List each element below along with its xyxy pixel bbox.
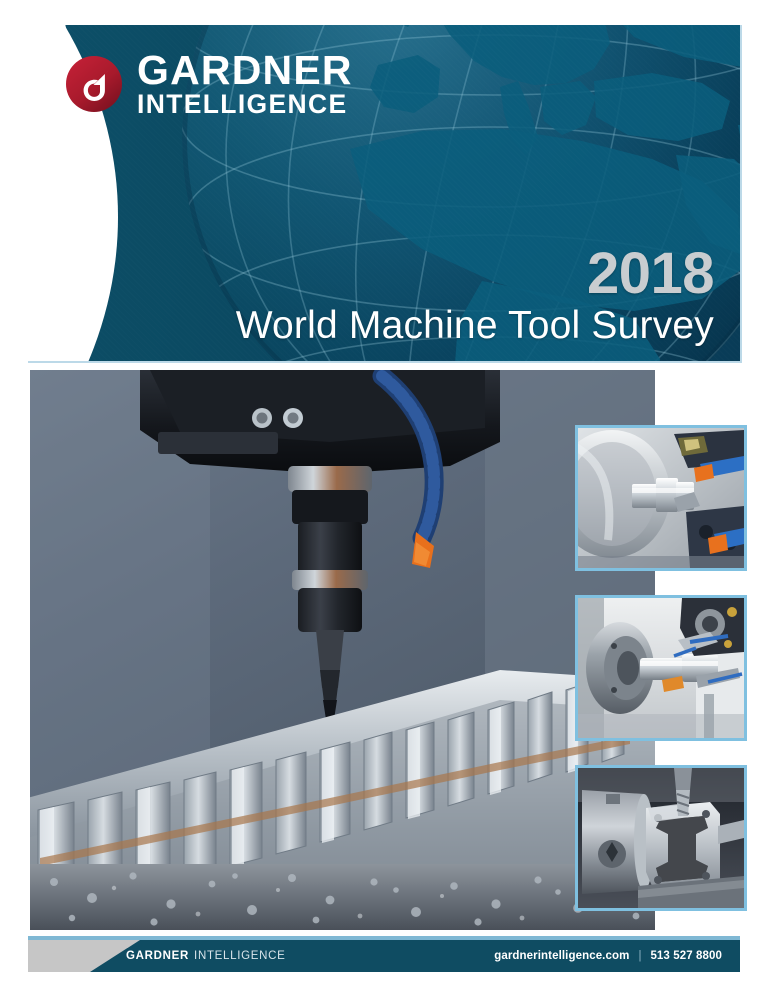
logo-wordmark: GARDNER INTELLIGENCE [137, 50, 353, 118]
cover-page: GARDNER INTELLIGENCE 2018 World Machine … [0, 0, 768, 994]
lathe-turning-photo [575, 425, 747, 571]
title-year: 2018 [236, 245, 714, 303]
machined-part-photo [575, 765, 747, 911]
footer-brand-gardner: GARDNER [126, 950, 189, 962]
gardner-g-mark-icon [64, 54, 124, 114]
grinding-spindle-photo [575, 595, 747, 741]
cnc-milling-machine-photo [30, 370, 655, 930]
logo-line-gardner: GARDNER [137, 50, 353, 90]
footer-brand-intelligence: INTELLIGENCE [194, 950, 285, 962]
footer-phone[interactable]: 513 527 8800 [650, 950, 722, 962]
footer-brand: GARDNER INTELLIGENCE [126, 940, 286, 972]
page-title: World Machine Tool Survey [236, 305, 714, 347]
logo-line-intelligence: INTELLIGENCE [137, 92, 353, 118]
footer-contact: gardnerintelligence.com | 513 527 8800 [494, 940, 722, 972]
footer-separator: | [638, 950, 641, 962]
header-banner: GARDNER INTELLIGENCE 2018 World Machine … [28, 25, 742, 363]
cover-title-block: 2018 World Machine Tool Survey [236, 245, 714, 347]
footer-bar: GARDNER INTELLIGENCE gardnerintelligence… [28, 936, 740, 972]
footer-website-link[interactable]: gardnerintelligence.com [494, 950, 629, 962]
gardner-intelligence-logo: GARDNER INTELLIGENCE [64, 50, 353, 118]
